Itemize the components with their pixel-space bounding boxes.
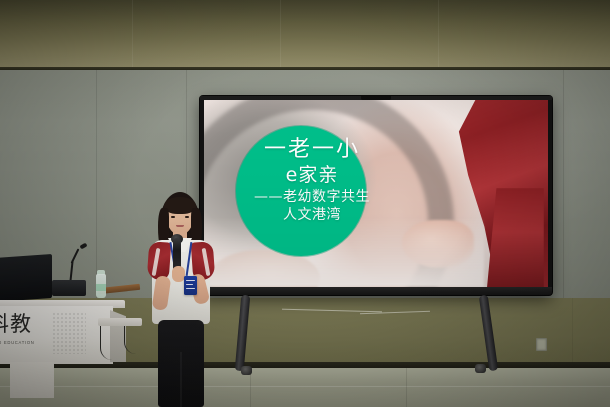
wall-seam	[572, 298, 573, 362]
id-badge[interactable]	[184, 276, 197, 295]
ceiling-seam	[132, 0, 133, 70]
presenter-leg-split	[180, 352, 182, 407]
wall-outlet[interactable]	[536, 338, 547, 351]
floor	[0, 368, 610, 407]
podium-logo-cn: 科教	[0, 314, 54, 335]
power-cable	[100, 326, 119, 360]
mic-capsule-icon	[79, 243, 87, 250]
floor-tile-line	[0, 386, 610, 387]
presenter-uniform-shoulder	[147, 241, 172, 280]
mic-stem	[71, 248, 79, 263]
bottle-label	[96, 284, 106, 291]
presenter	[134, 192, 230, 407]
tv-stand-caster	[241, 366, 252, 375]
tv-chin	[200, 287, 552, 295]
ceiling-seam	[438, 0, 439, 70]
badge-text-line	[186, 284, 193, 285]
podium-equipment	[52, 280, 86, 296]
slide-title-line2: e家亲	[212, 163, 412, 188]
speaker-grill-icon	[52, 312, 86, 354]
wall-seam	[96, 70, 97, 298]
ceiling-seam	[280, 0, 281, 70]
badge-text-line	[186, 280, 195, 281]
floor-tile-line	[406, 368, 407, 407]
slide-text-block: 一老一小 e家亲 ——老幼数字共生 人文港湾	[212, 138, 412, 225]
slide-canvas: 一老一小 e家亲 ——老幼数字共生 人文港湾	[204, 100, 548, 287]
slide-subtitle-line2: 人文港湾	[212, 207, 412, 225]
photo-scene: 一老一小 e家亲 ——老幼数字共生 人文港湾 科教 Y AND EDUCATIO…	[0, 0, 610, 407]
podium-monitor[interactable]	[0, 254, 52, 302]
badge-text-line	[186, 288, 195, 289]
wall-seam	[563, 70, 564, 298]
ceiling	[0, 0, 610, 70]
presenter-eye	[171, 216, 175, 218]
slide-subtitle-line1: ——老幼数字共生	[212, 189, 412, 207]
podium-base	[10, 362, 54, 398]
display-screen[interactable]: 一老一小 e家亲 ——老幼数字共生 人文港湾	[200, 96, 552, 295]
slide-title-line1: 一老一小	[212, 138, 412, 163]
tv-stand-caster	[475, 364, 486, 373]
presenter-eye	[185, 216, 189, 218]
